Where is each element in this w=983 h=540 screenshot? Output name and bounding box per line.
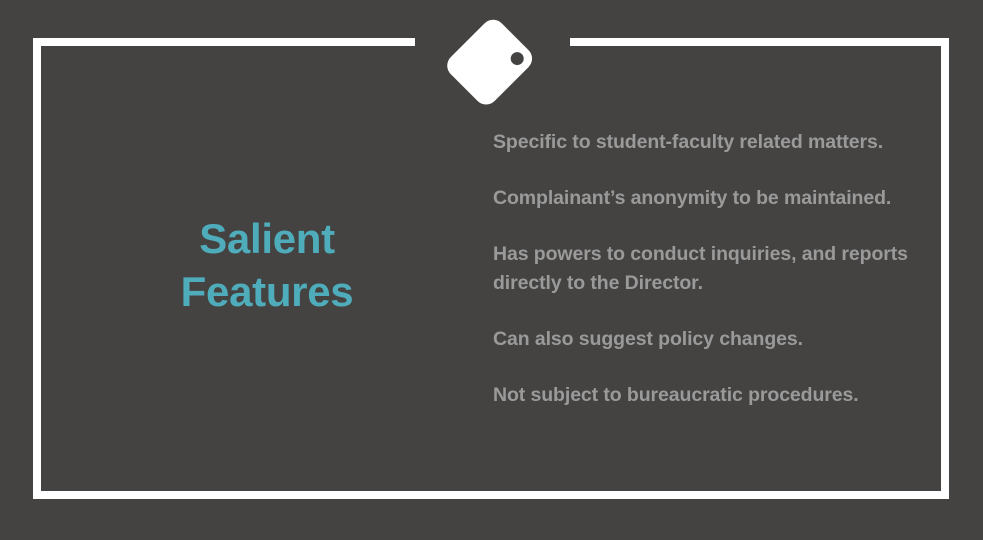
page-title: Salient Features xyxy=(181,213,354,319)
frame-border-bottom xyxy=(33,491,949,499)
title-column: Salient Features xyxy=(41,213,493,325)
list-item: Specific to student-faculty related matt… xyxy=(493,128,913,156)
salient-features-list: Specific to student-faculty related matt… xyxy=(493,128,931,410)
frame-border-left xyxy=(33,38,41,499)
list-item: Complainant’s anonymity to be maintained… xyxy=(493,184,913,212)
list-item: Has powers to conduct inquiries, and rep… xyxy=(493,240,913,297)
frame-border-top-left xyxy=(33,38,415,46)
list-item: Can also suggest policy changes. xyxy=(493,325,913,353)
frame-border-right xyxy=(941,38,949,499)
frame-border-top-right xyxy=(570,38,949,46)
slide-content: Salient Features Specific to student-fac… xyxy=(41,46,941,491)
list-item: Not subject to bureaucratic procedures. xyxy=(493,381,913,409)
slide-canvas: Salient Features Specific to student-fac… xyxy=(0,0,983,540)
bullets-column: Specific to student-faculty related matt… xyxy=(493,128,941,410)
